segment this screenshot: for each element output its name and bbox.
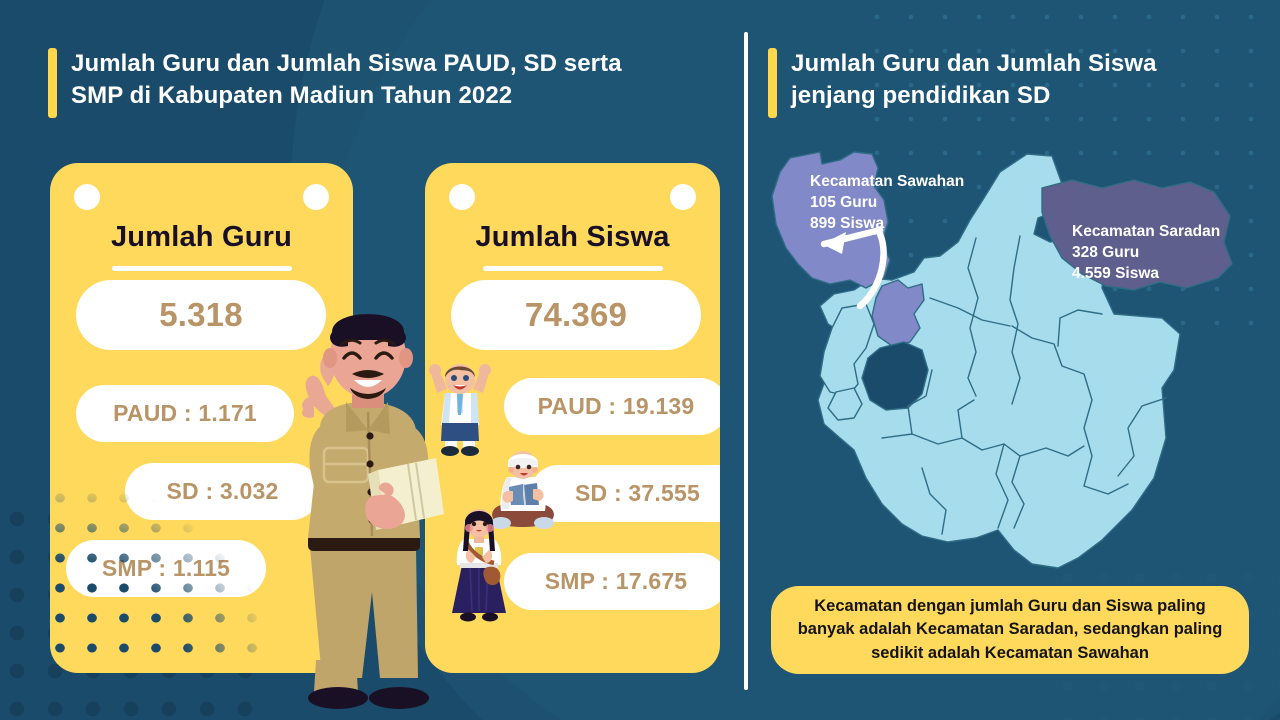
map-label-sawahan: Kecamatan Sawahan 105 Guru 899 Siswa <box>810 172 964 235</box>
card-guru-rule <box>112 266 292 271</box>
card-siswa-row-paud: PAUD : 19.139 <box>504 378 720 435</box>
card-punch-hole-left <box>74 184 100 210</box>
map-label-sawahan-teachers: 105 Guru <box>810 193 964 214</box>
panel-divider <box>744 32 748 690</box>
card-guru-heading: Jumlah Guru <box>50 221 353 254</box>
card-punch-hole-right <box>303 184 329 210</box>
map-label-saradan-teachers: 328 Guru <box>1072 243 1220 264</box>
map-caption-text: Kecamatan dengan jumlah Guru dan Siswa p… <box>787 595 1233 665</box>
card-siswa-total-value: 74.369 <box>451 280 701 350</box>
title-accent-bar-left <box>48 48 57 118</box>
student-cheering-boy-illustration <box>427 357 493 457</box>
card-guru-row-paud: PAUD : 1.171 <box>76 385 294 442</box>
right-panel-title-text: Jumlah Guru dan Jumlah Siswa jenjang pen… <box>791 48 1157 113</box>
left-panel-title-text: Jumlah Guru dan Jumlah Siswa PAUD, SD se… <box>71 48 622 113</box>
map-label-sawahan-students: 899 Siswa <box>810 214 964 235</box>
map-label-sawahan-district: Kecamatan Sawahan <box>810 172 964 193</box>
map-caption-box: Kecamatan dengan jumlah Guru dan Siswa p… <box>771 586 1249 674</box>
card-siswa-rule <box>483 266 663 271</box>
card-siswa-heading: Jumlah Siswa <box>425 221 720 254</box>
title-accent-bar-right <box>768 48 777 118</box>
card-guru-dot-decoration <box>50 483 274 673</box>
map-label-saradan: Kecamatan Saradan 328 Guru 4.559 Siswa <box>1072 222 1220 285</box>
left-panel-title: Jumlah Guru dan Jumlah Siswa PAUD, SD se… <box>48 48 708 118</box>
card-punch-hole-right <box>670 184 696 210</box>
card-punch-hole-left <box>449 184 475 210</box>
map-label-saradan-students: 4.559 Siswa <box>1072 264 1220 285</box>
card-siswa-row-smp: SMP : 17.675 <box>504 553 720 610</box>
right-panel-title: Jumlah Guru dan Jumlah Siswa jenjang pen… <box>768 48 1238 118</box>
map-label-saradan-district: Kecamatan Saradan <box>1072 222 1220 243</box>
student-girl-with-bag-illustration <box>448 505 510 627</box>
